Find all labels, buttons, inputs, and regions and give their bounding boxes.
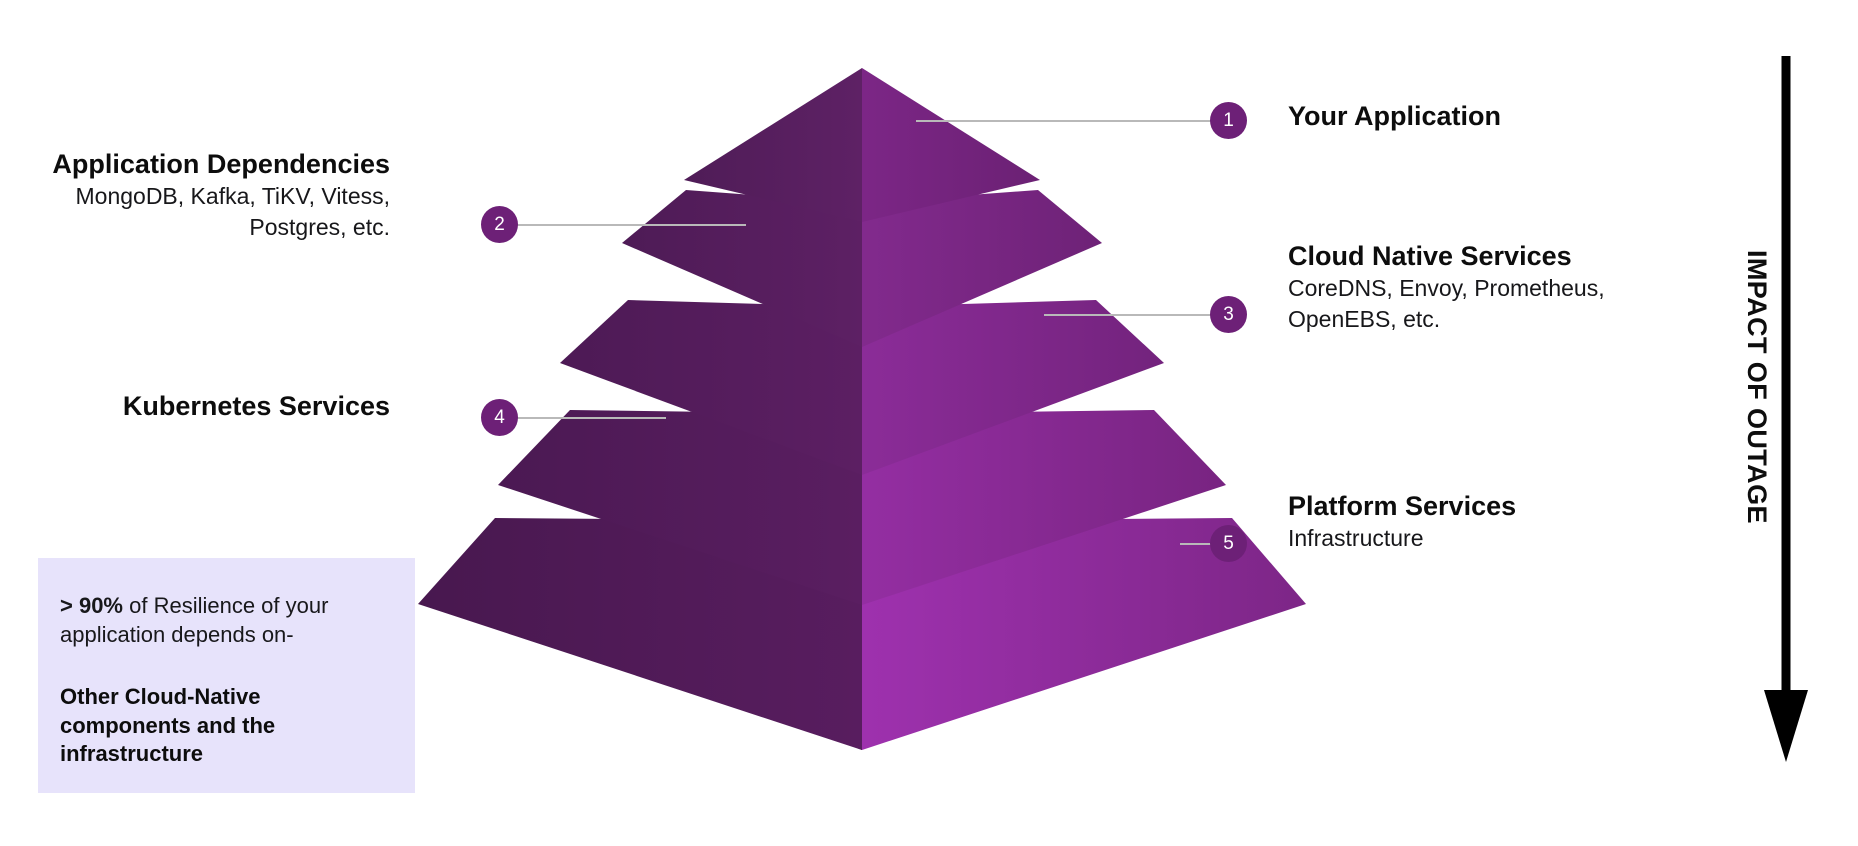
level-badge-4[interactable]: 4 [481,399,518,436]
label-application-dependencies-title: Application Dependencies [28,148,390,181]
label-cloud-native-services-sub1: CoreDNS, Envoy, Prometheus, [1288,273,1808,304]
callout-lead-text: > 90% of Resilience of your application … [60,592,383,649]
leader-line-1 [916,120,1212,122]
label-kubernetes-services: Kubernetes Services [28,390,390,423]
label-kubernetes-services-title: Kubernetes Services [28,390,390,423]
leader-line-4 [516,417,666,419]
label-application-dependencies-sub1: MongoDB, Kafka, TiKV, Vitess, [28,181,390,212]
leader-line-2 [516,224,746,226]
arrow-head-icon [1764,690,1808,762]
level-badge-2[interactable]: 2 [481,206,518,243]
label-cloud-native-services-sub2: OpenEBS, etc. [1288,304,1808,335]
diagram-canvas: 1 2 3 4 5 Your Application Application D… [0,0,1858,846]
level-badge-1[interactable]: 1 [1210,102,1247,139]
leader-line-3 [1044,314,1212,316]
label-platform-services-title: Platform Services [1288,490,1808,523]
label-your-application: Your Application [1288,100,1808,133]
label-cloud-native-services-title: Cloud Native Services [1288,240,1808,273]
label-application-dependencies-sub2: Postgres, etc. [28,212,390,243]
callout-lead-bold: > 90% [60,593,123,618]
callout-emphasis-text: Other Cloud-Native components and the in… [60,649,383,769]
level-badge-5[interactable]: 5 [1210,525,1247,562]
label-platform-services: Platform Services Infrastructure [1288,490,1808,554]
label-application-dependencies: Application Dependencies MongoDB, Kafka,… [28,148,390,242]
level-badge-3[interactable]: 3 [1210,296,1247,333]
label-cloud-native-services: Cloud Native Services CoreDNS, Envoy, Pr… [1288,240,1808,334]
label-platform-services-sub: Infrastructure [1288,523,1808,554]
leader-line-5 [1180,543,1214,545]
resilience-callout-box: > 90% of Resilience of your application … [38,558,415,793]
label-your-application-title: Your Application [1288,100,1808,133]
impact-of-outage-label: IMPACT OF OUTAGE [1741,250,1772,570]
